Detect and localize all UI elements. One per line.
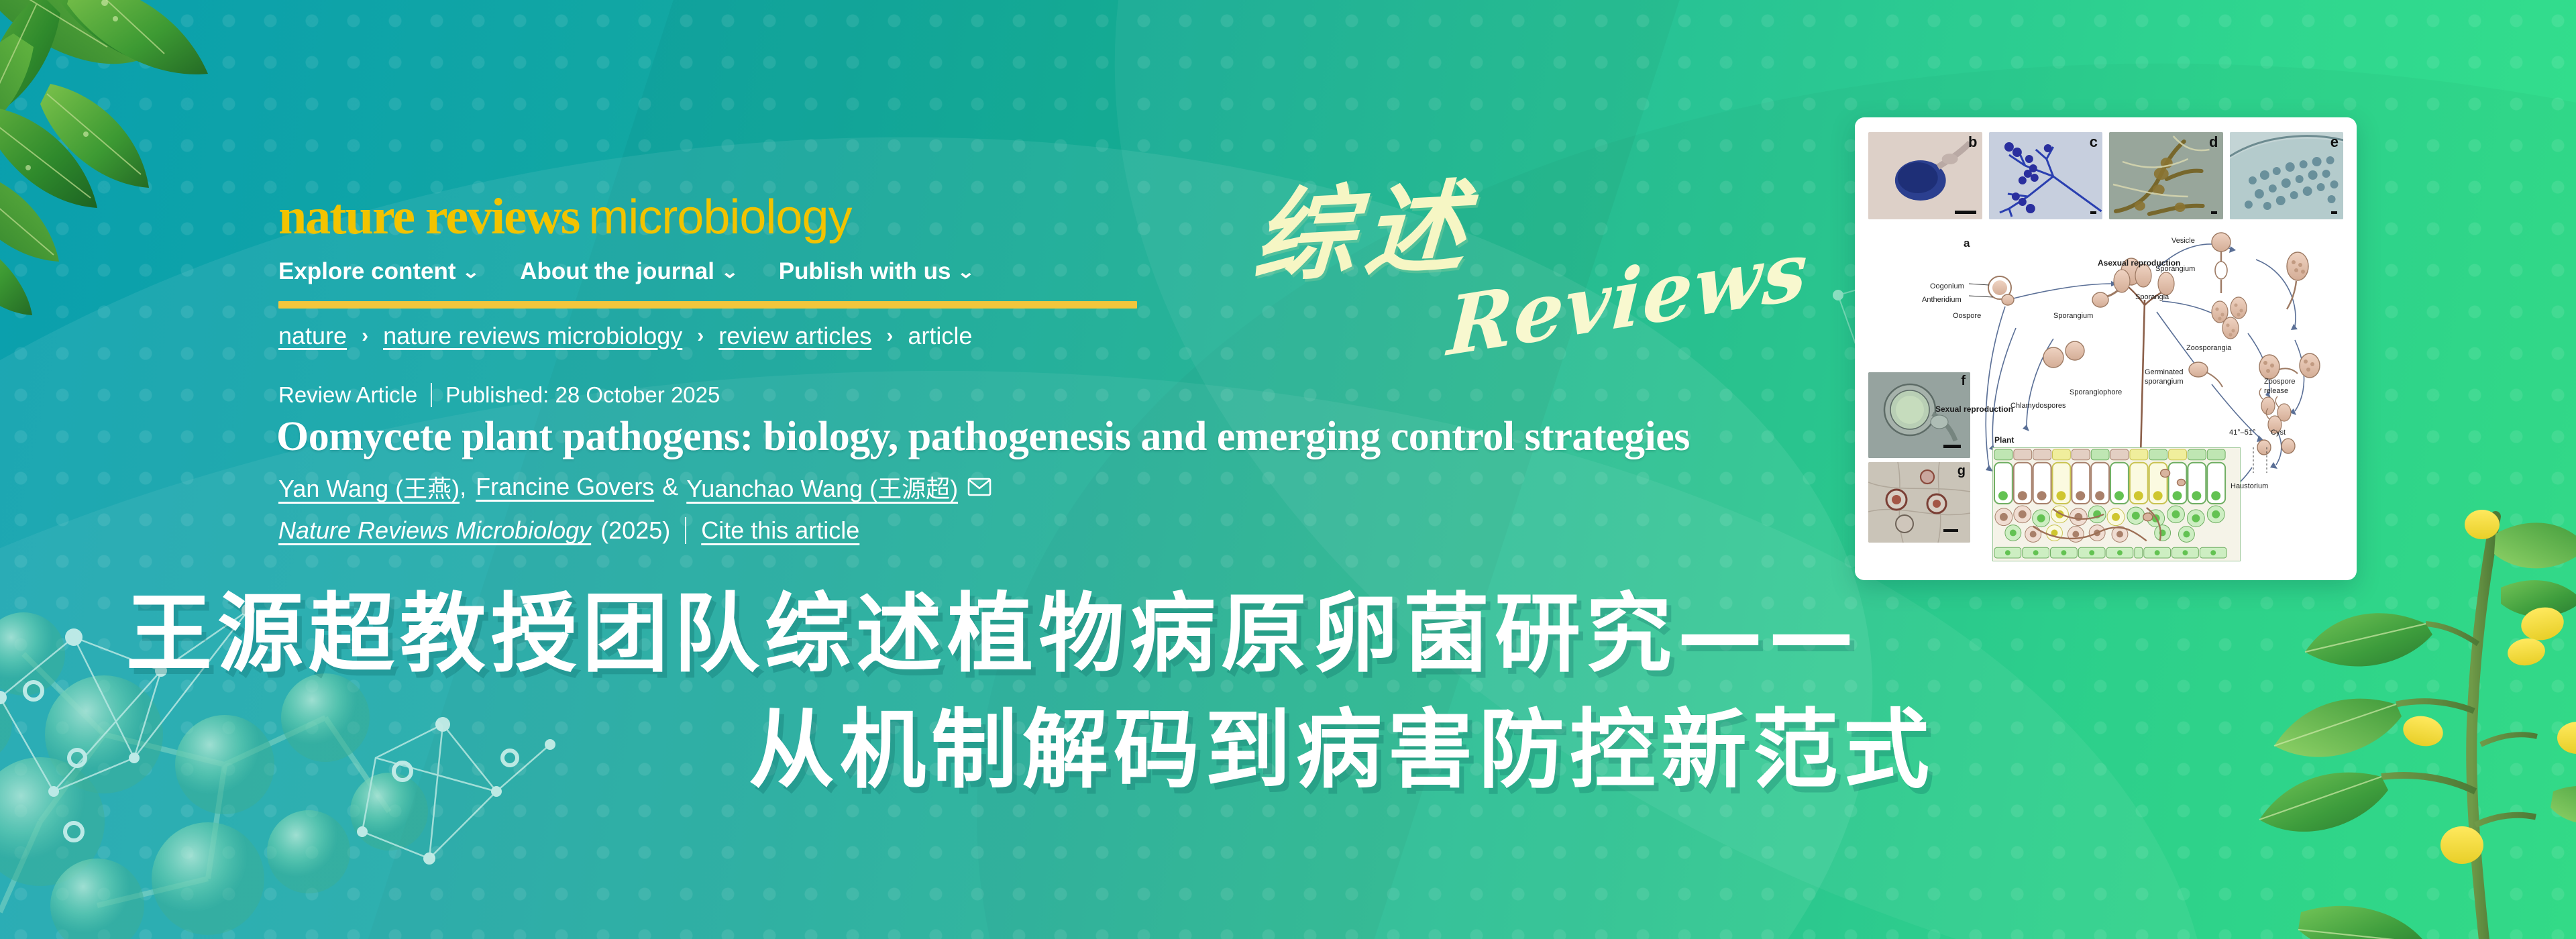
- cite-divider: [685, 517, 686, 544]
- journal-name-link[interactable]: Nature Reviews Microbiology: [278, 516, 591, 545]
- label-zoosporangia: Zoosporangia: [2186, 344, 2231, 352]
- label-plant: Plant: [1994, 435, 2014, 445]
- logo-light-text: microbiology: [588, 193, 851, 241]
- micrograph-panel-d: d: [2109, 132, 2223, 219]
- mail-icon[interactable]: [967, 478, 991, 496]
- breadcrumb-item-article: article: [908, 322, 972, 350]
- figure-card[interactable]: b: [1855, 117, 2357, 580]
- breadcrumb-item-review-articles[interactable]: review articles: [718, 322, 871, 350]
- author-list: Yan Wang (王燕) , Francine Govers & Yuanch…: [278, 469, 991, 504]
- scale-bar: [2090, 211, 2096, 214]
- chevron-down-icon: ⌄: [957, 263, 975, 280]
- article-meta: Review Article Published: 28 October 202…: [278, 382, 720, 408]
- label-oospore: Oospore: [1953, 312, 1981, 320]
- breadcrumb: nature › nature reviews microbiology › r…: [278, 322, 972, 350]
- label-sporangia: Sporangia: [2135, 293, 2169, 301]
- journal-logo[interactable]: nature reviews microbiology: [278, 191, 1553, 242]
- meta-divider: [431, 383, 432, 407]
- breadcrumb-separator-icon: ›: [886, 325, 893, 347]
- citation-line: Nature Reviews Microbiology (2025) Cite …: [278, 516, 859, 545]
- nav-label: Publish with us: [779, 258, 951, 285]
- micrograph-panel-f: f: [1868, 372, 1970, 458]
- label-zoospore-release: Zoospore release: [2264, 378, 2300, 396]
- cite-this-article-link[interactable]: Cite this article: [701, 516, 859, 545]
- panel-letter-c: c: [2090, 133, 2098, 151]
- chevron-down-icon: ⌄: [462, 263, 480, 280]
- author-link-francine-govers[interactable]: Francine Govers: [476, 473, 654, 501]
- breadcrumb-separator-icon: ›: [697, 325, 704, 347]
- breadcrumb-separator-icon: ›: [362, 325, 368, 347]
- article-type-label: Review Article: [278, 382, 417, 408]
- label-sporangiophore: Sporangiophore: [2070, 388, 2122, 396]
- scale-bar: [2331, 211, 2337, 214]
- label-sporangium-mid: Sporangium: [2053, 312, 2093, 320]
- main-navigation: Explore content ⌄ About the journal ⌄ Pu…: [278, 258, 1553, 285]
- scale-bar: [1955, 211, 1976, 214]
- panel-letter-f: f: [1961, 374, 1966, 389]
- nav-item-explore-content[interactable]: Explore content ⌄: [278, 258, 478, 285]
- label-chlamydospores: Chlamydospores: [2010, 402, 2066, 410]
- author-conjunction: &: [662, 473, 678, 501]
- label-oogonium: Oogonium: [1930, 282, 1964, 290]
- breadcrumb-item-nature[interactable]: nature: [278, 322, 347, 350]
- logo-bold-text: nature reviews: [278, 191, 579, 242]
- nav-item-about-the-journal[interactable]: About the journal ⌄: [520, 258, 737, 285]
- micrograph-row: b: [1868, 132, 2343, 219]
- nav-underline-rule: [278, 301, 1137, 309]
- author-link-yan-wang[interactable]: Yan Wang (王燕): [278, 469, 460, 504]
- panel-letter-g: g: [1957, 463, 1966, 479]
- label-cyst: Cyst: [2271, 429, 2286, 437]
- plant-tissue-cross-section: [1992, 447, 2241, 561]
- nav-item-publish-with-us[interactable]: Publish with us ⌄: [779, 258, 973, 285]
- chevron-down-icon: ⌄: [720, 263, 739, 280]
- micrograph-panel-b: b: [1868, 132, 1982, 219]
- banner-stage: 综述 Reviews nature reviews microbiology E…: [0, 0, 2576, 939]
- label-vesicle: Vesicle: [2171, 237, 2195, 245]
- label-haustorium: Haustorium: [2231, 482, 2268, 490]
- label-antheridium: Antheridium: [1922, 296, 1962, 304]
- article-published-label: Published: 28 October 2025: [445, 382, 720, 408]
- publication-year: (2025): [600, 516, 670, 545]
- micrograph-panel-e: e: [2230, 132, 2344, 219]
- label-sporangium-top: Sporangium: [2155, 265, 2195, 273]
- author-separator: ,: [460, 473, 466, 501]
- nav-label: Explore content: [278, 258, 455, 285]
- panel-letter-e: e: [2330, 133, 2339, 151]
- nav-label: About the journal: [520, 258, 714, 285]
- micrograph-panel-c: c: [1989, 132, 2103, 219]
- scale-bar: [2211, 211, 2217, 214]
- diagram-panel-letter-a: a: [1964, 237, 1970, 250]
- article-title: Oomycete plant pathogens: biology, patho…: [276, 413, 1690, 461]
- breadcrumb-item-journal[interactable]: nature reviews microbiology: [383, 322, 682, 350]
- label-germinated-sporangium: Germinated sporangium: [2145, 368, 2186, 387]
- panel-letter-b: b: [1968, 133, 1977, 151]
- micrograph-panel-g: g: [1868, 462, 1970, 543]
- label-angle-range: 41°–51°: [2229, 429, 2255, 437]
- label-sexual-reproduction: Sexual reproduction: [1935, 404, 2013, 414]
- journal-header: nature reviews microbiology Explore cont…: [278, 191, 1553, 309]
- panel-letter-d: d: [2209, 133, 2218, 151]
- author-link-yuanchao-wang[interactable]: Yuanchao Wang (王源超): [686, 469, 958, 504]
- life-cycle-diagram: f: [1868, 226, 2343, 575]
